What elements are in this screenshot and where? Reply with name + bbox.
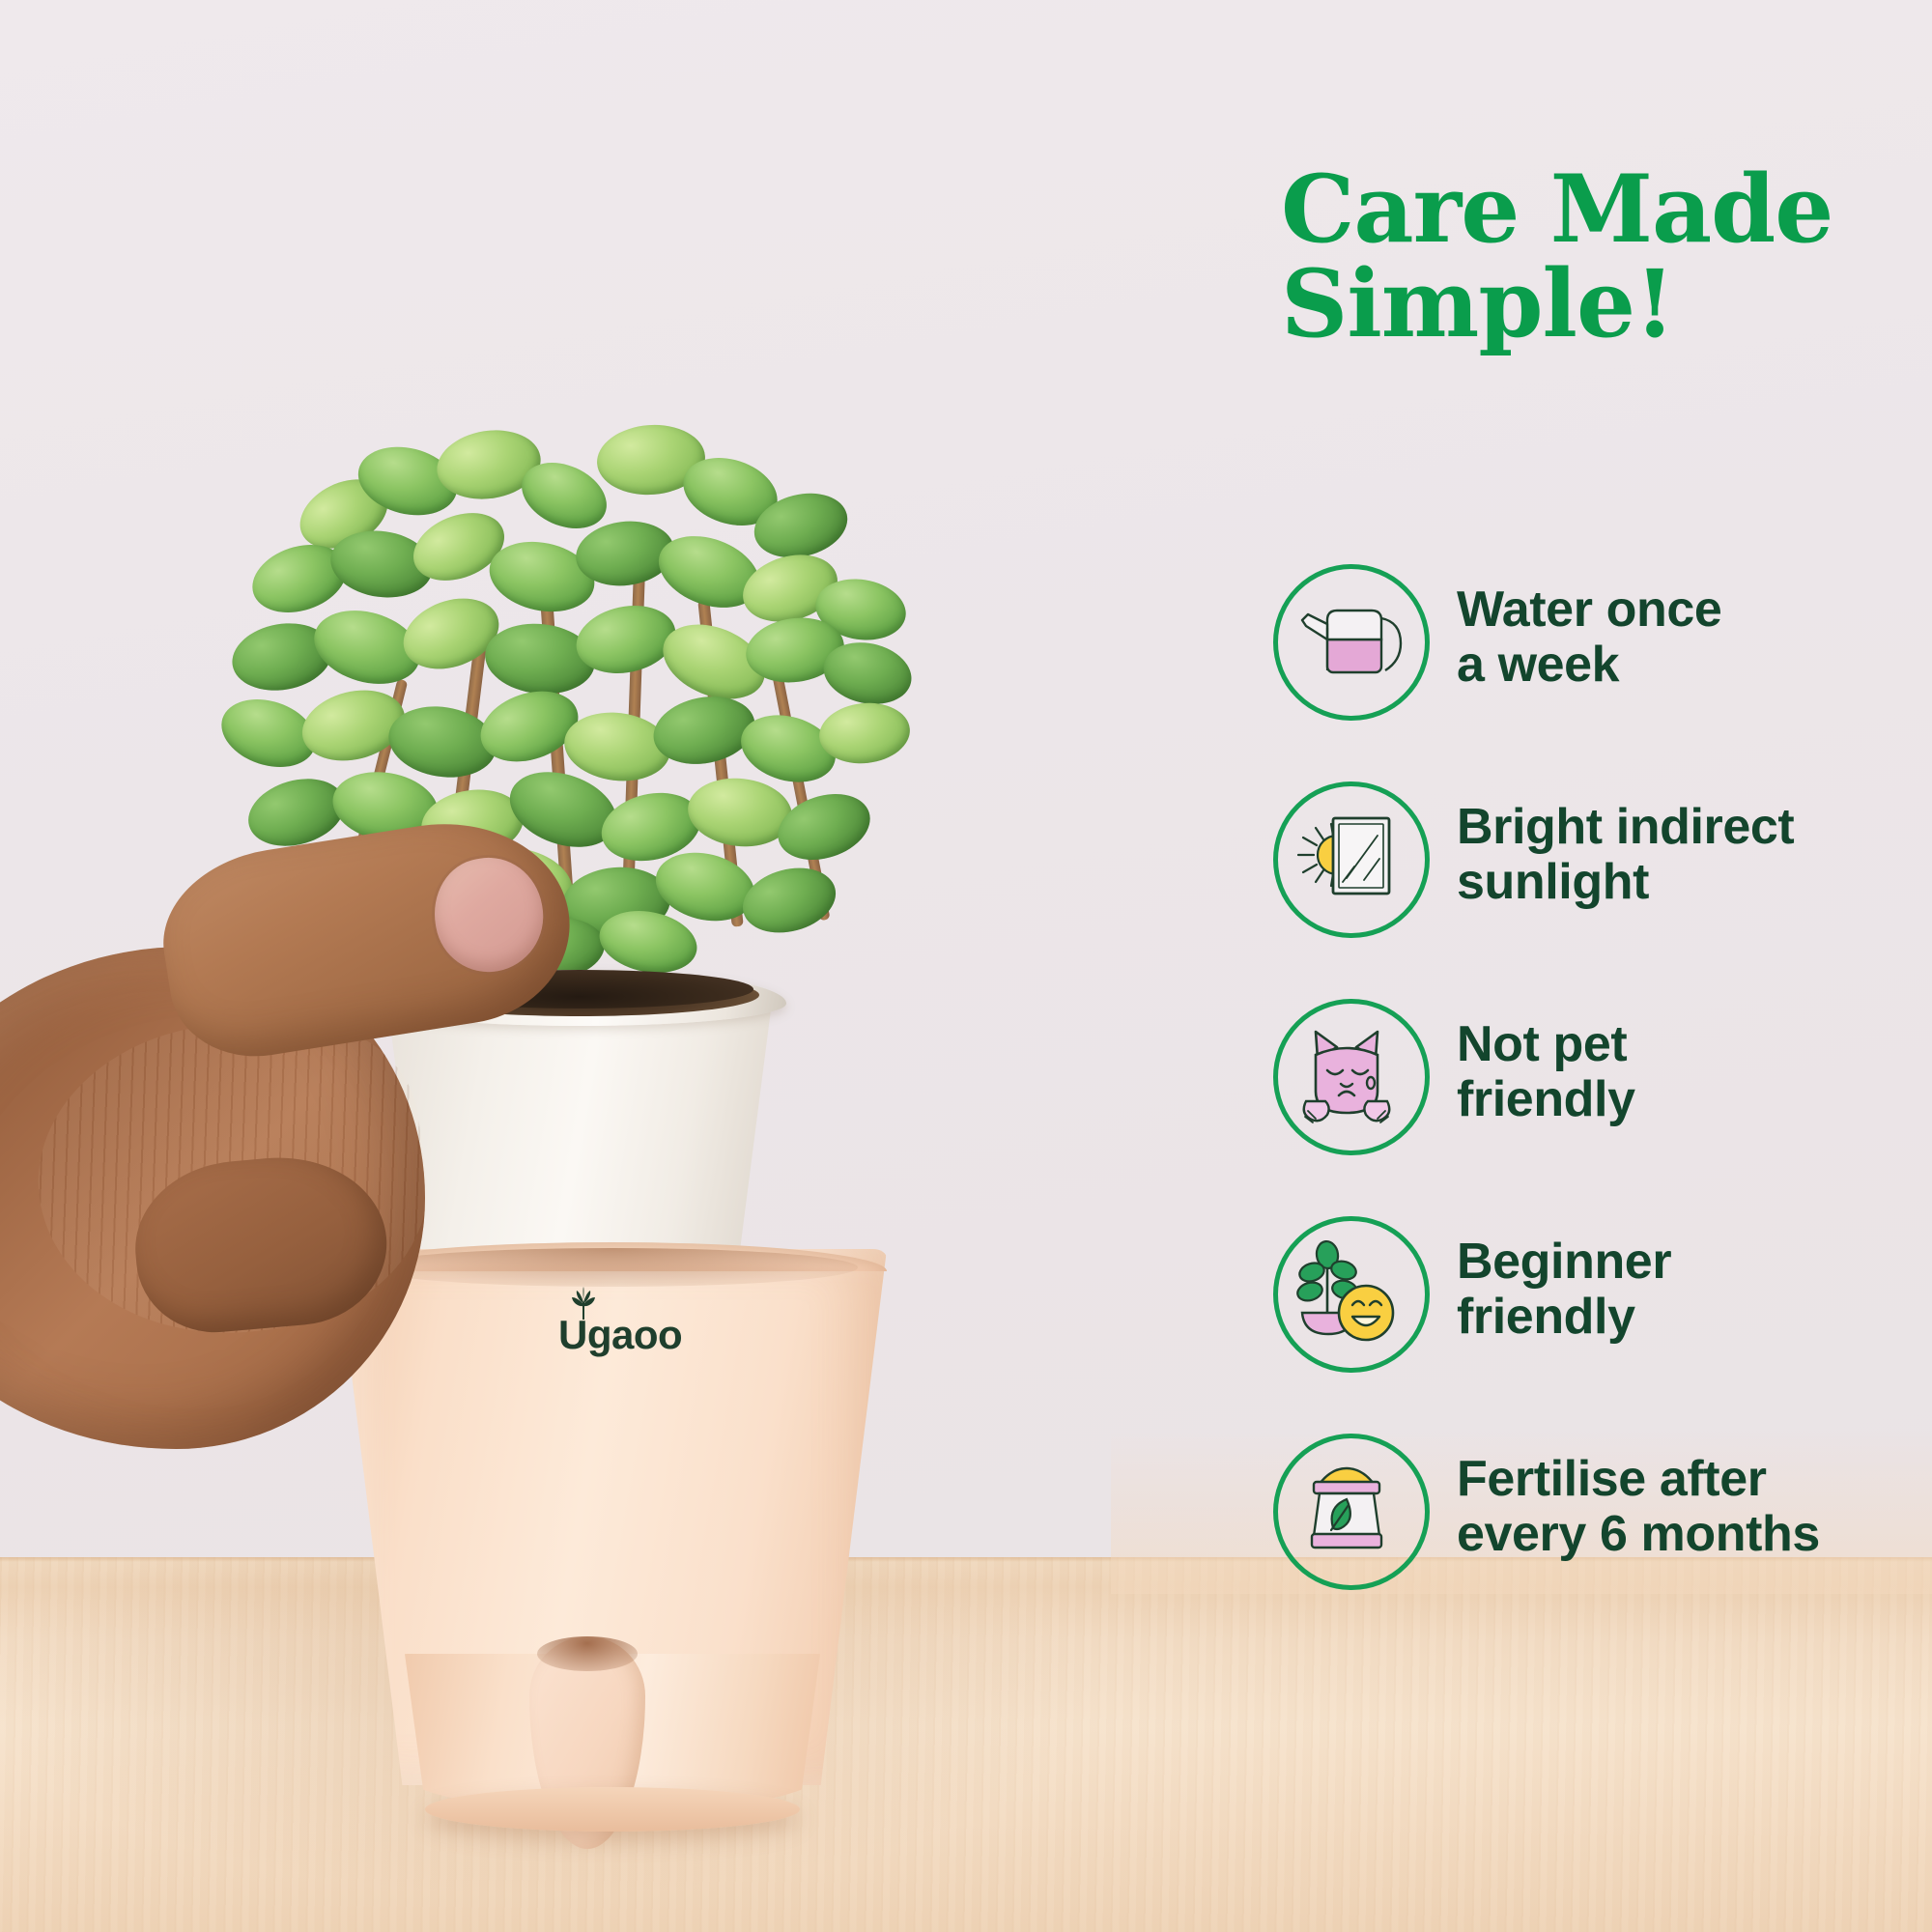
care-item-pet-label: Not pet friendly xyxy=(1457,1017,1635,1127)
care-panel: Care Made Simple! Water once a week xyxy=(1273,0,1932,1932)
care-item-light-label: Bright indirect sunlight xyxy=(1457,800,1794,910)
fertiliser-bag-glyph xyxy=(1273,1434,1420,1580)
potted-plant-smiley-glyph xyxy=(1273,1216,1420,1363)
sun-window-icon xyxy=(1273,781,1420,928)
page-title-line2: Simple! xyxy=(1281,257,1918,352)
product-care-infographic: Ugaoo Care Made Simple! xyxy=(0,0,1932,1932)
fertiliser-bag-icon xyxy=(1273,1434,1420,1580)
care-item-pet: Not pet friendly xyxy=(1273,990,1932,1154)
care-item-water: Water once a week xyxy=(1273,555,1932,720)
care-instruction-list: Water once a week xyxy=(1273,555,1932,1642)
care-item-fertilise-label: Fertilise after every 6 months xyxy=(1457,1452,1820,1562)
sad-cat-icon xyxy=(1273,999,1420,1146)
care-item-fertilise: Fertilise after every 6 months xyxy=(1273,1425,1932,1589)
watering-can-glyph xyxy=(1273,564,1420,711)
page-title-line1: Care Made xyxy=(1281,162,1918,257)
sad-cat-glyph xyxy=(1273,999,1420,1146)
care-item-water-label: Water once a week xyxy=(1457,582,1721,693)
saucer-base xyxy=(425,1787,800,1832)
sun-window-glyph xyxy=(1273,781,1420,928)
watering-can-icon xyxy=(1273,564,1420,711)
care-item-beginner: Beginner friendly xyxy=(1273,1207,1932,1372)
potted-plant-smiley-icon xyxy=(1273,1216,1420,1363)
care-item-beginner-label: Beginner friendly xyxy=(1457,1235,1671,1345)
care-item-light: Bright indirect sunlight xyxy=(1273,773,1932,937)
self-watering-slot xyxy=(537,1636,638,1671)
hand-holding-plant xyxy=(0,898,638,1575)
page-title: Care Made Simple! xyxy=(1281,162,1918,352)
